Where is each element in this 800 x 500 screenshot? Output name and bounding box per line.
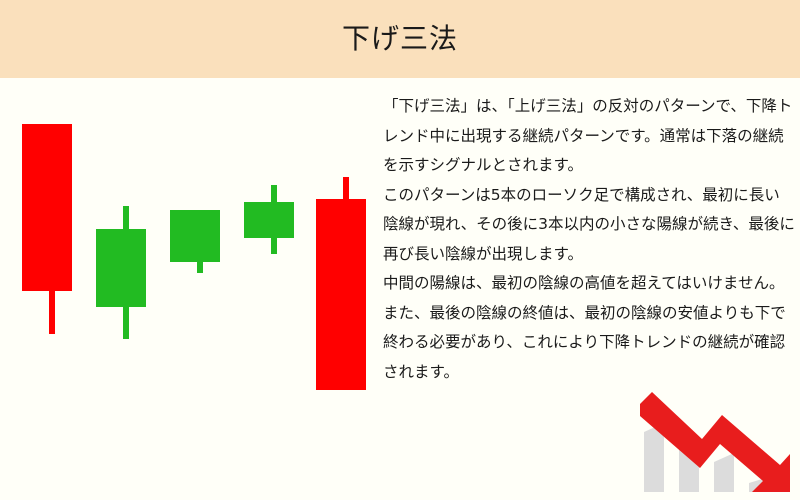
bar-3 [714, 453, 734, 492]
description-paragraph-3: 中間の陽線は、最初の陰線の高値を超えてはいけません。また、最後の陰線の終値は、最… [383, 269, 795, 387]
candle-1-bearish [22, 78, 82, 500]
candle-5-body [316, 199, 366, 390]
candle-4-bullish [244, 78, 304, 500]
candle-2-body [96, 229, 146, 307]
candle-3-body [170, 210, 220, 262]
description-paragraph-1: 「下げ三法」は、「上げ三法」の反対のパターンで、下降トレンド中に出現する継続パタ… [383, 92, 795, 181]
downtrend-arrow-icon [630, 392, 800, 500]
candle-4-body [244, 202, 294, 238]
candle-2-bullish [96, 78, 156, 500]
page-title: 下げ三法 [0, 0, 800, 78]
page-root: 下げ三法 「下げ三法」は、「上げ三法」の反対のパターンで、下降トレン [0, 0, 800, 500]
description-block: 「下げ三法」は、「上げ三法」の反対のパターンで、下降トレンド中に出現する継続パタ… [383, 92, 795, 387]
candlestick-chart [0, 78, 372, 500]
candle-5-bearish [316, 78, 376, 500]
description-paragraph-2: このパターンは5本のローソク足で構成され、最初に長い陰線が現れ、その後に3本以内… [383, 181, 795, 270]
candle-1-body [22, 124, 72, 291]
candle-3-bullish [170, 78, 230, 500]
